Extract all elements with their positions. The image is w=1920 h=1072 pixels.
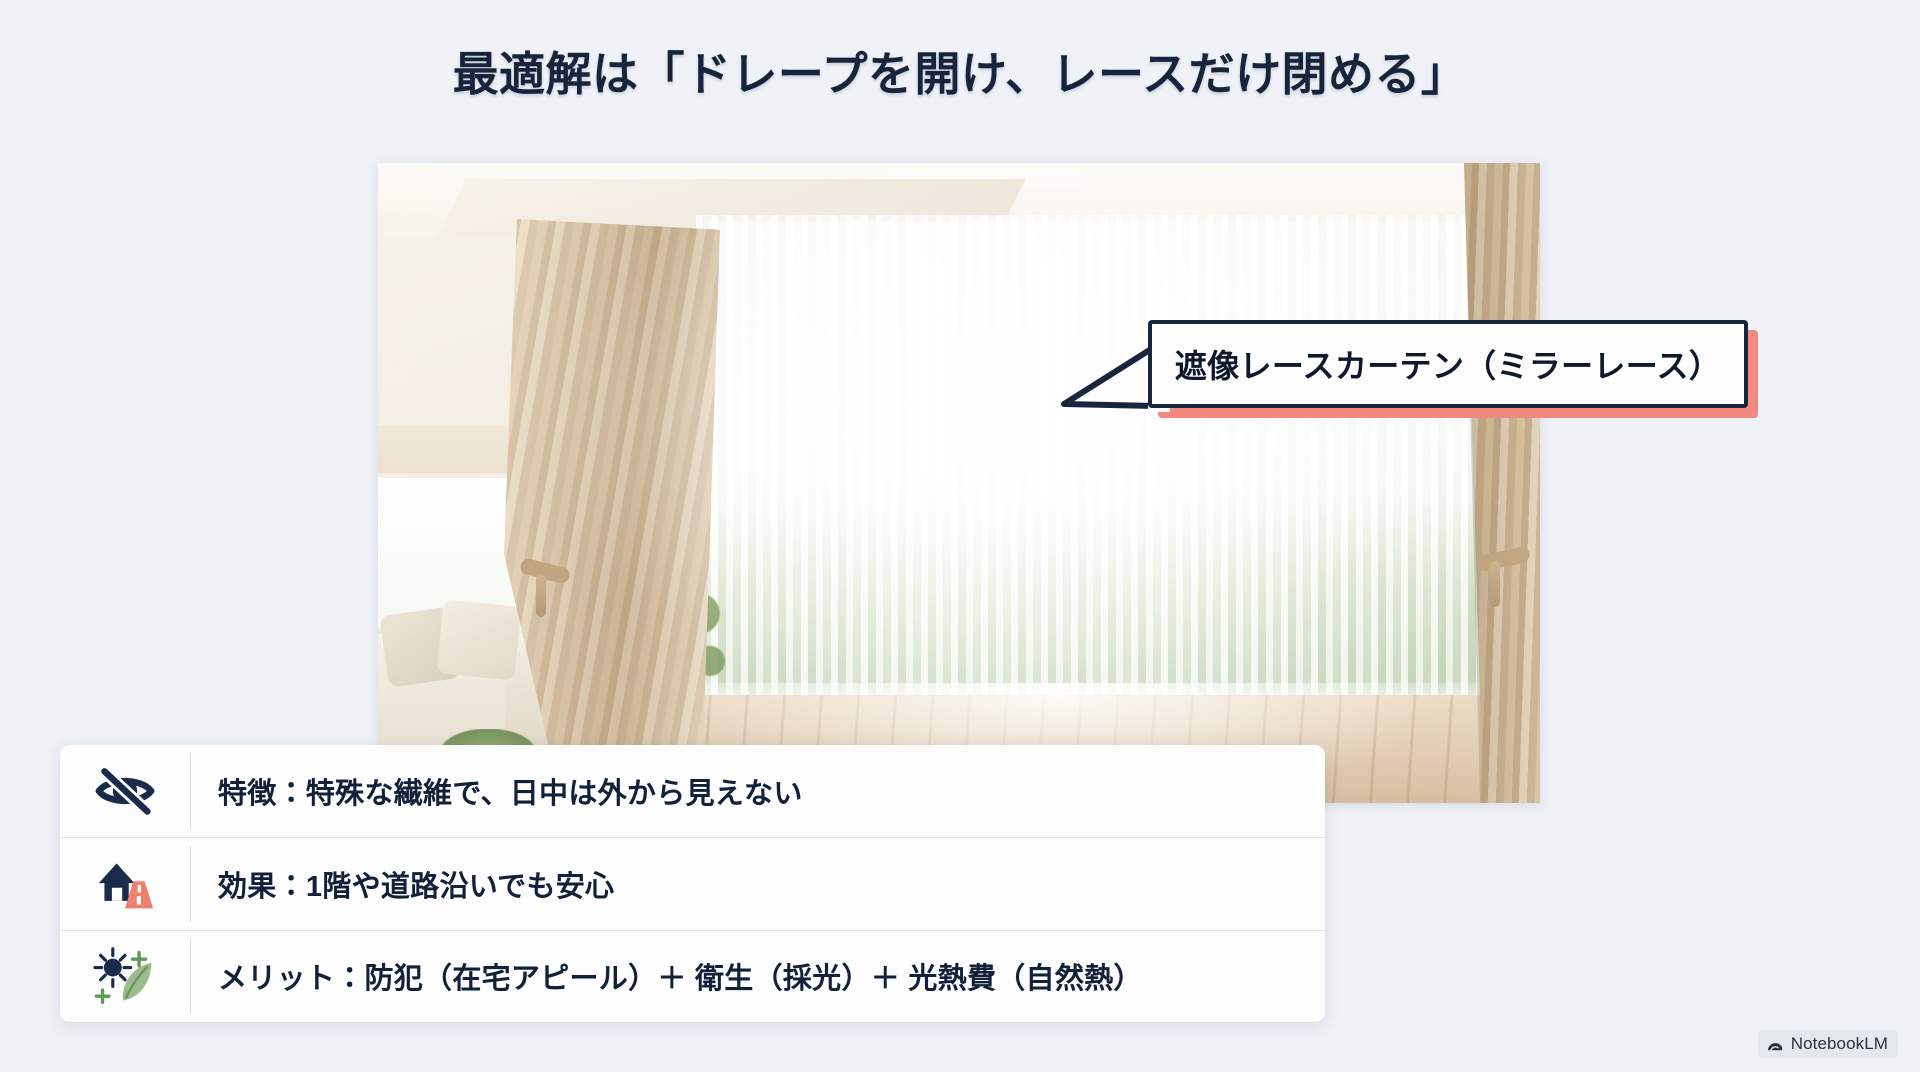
interior-photo bbox=[378, 163, 1540, 803]
curtain-tassel-right bbox=[1490, 561, 1500, 607]
sun-leaf-icon bbox=[93, 946, 157, 1006]
feature-row-merit: メリット：防犯（在宅アピール）＋ 衛生（採光）＋ 光熱費（自然熱） bbox=[60, 930, 1325, 1022]
feature-panel: 特徴：特殊な繊維で、日中は外から見えない 効果：1階や道路沿いでも安心 bbox=[60, 745, 1325, 1022]
feature-text-characteristic: 特徴：特殊な繊維で、日中は外から見えない bbox=[190, 770, 803, 812]
callout-box: 遮像レースカーテン（ミラーレース） bbox=[1148, 320, 1748, 408]
house-road-icon bbox=[94, 855, 156, 913]
row-divider bbox=[190, 753, 191, 829]
feature-text-merit: メリット：防犯（在宅アピール）＋ 衛生（採光）＋ 光熱費（自然熱） bbox=[190, 955, 1143, 997]
interior-photo-artwork bbox=[378, 163, 1540, 803]
page-title: 最適解は「ドレープを開け、レースだけ閉める」 bbox=[0, 38, 1920, 104]
sun-leaf-icon-wrap bbox=[60, 946, 190, 1006]
cushion-right bbox=[436, 599, 521, 681]
callout-label: 遮像レースカーテン（ミラーレース） bbox=[1175, 341, 1721, 387]
feature-row-effect: 効果：1階や道路沿いでも安心 bbox=[60, 837, 1325, 929]
eye-off-icon bbox=[95, 763, 155, 819]
notebooklm-spiral-icon bbox=[1766, 1036, 1784, 1052]
feature-text-effect: 効果：1階や道路沿いでも安心 bbox=[190, 863, 614, 905]
lace-curtain-sheen bbox=[696, 215, 1508, 755]
row-divider bbox=[190, 939, 191, 1014]
drape-curtain-left-shading bbox=[504, 219, 720, 759]
row-divider bbox=[190, 846, 191, 921]
notebooklm-watermark: NotebookLM bbox=[1758, 1030, 1898, 1058]
eye-off-icon-wrap bbox=[60, 763, 190, 819]
house-road-icon-wrap bbox=[60, 855, 190, 913]
notebooklm-label: NotebookLM bbox=[1791, 1034, 1888, 1054]
curtain-tassel-left bbox=[536, 575, 546, 617]
feature-row-characteristic: 特徴：特殊な繊維で、日中は外から見えない bbox=[60, 745, 1325, 837]
callout-mirror-lace: 遮像レースカーテン（ミラーレース） bbox=[1148, 320, 1748, 408]
